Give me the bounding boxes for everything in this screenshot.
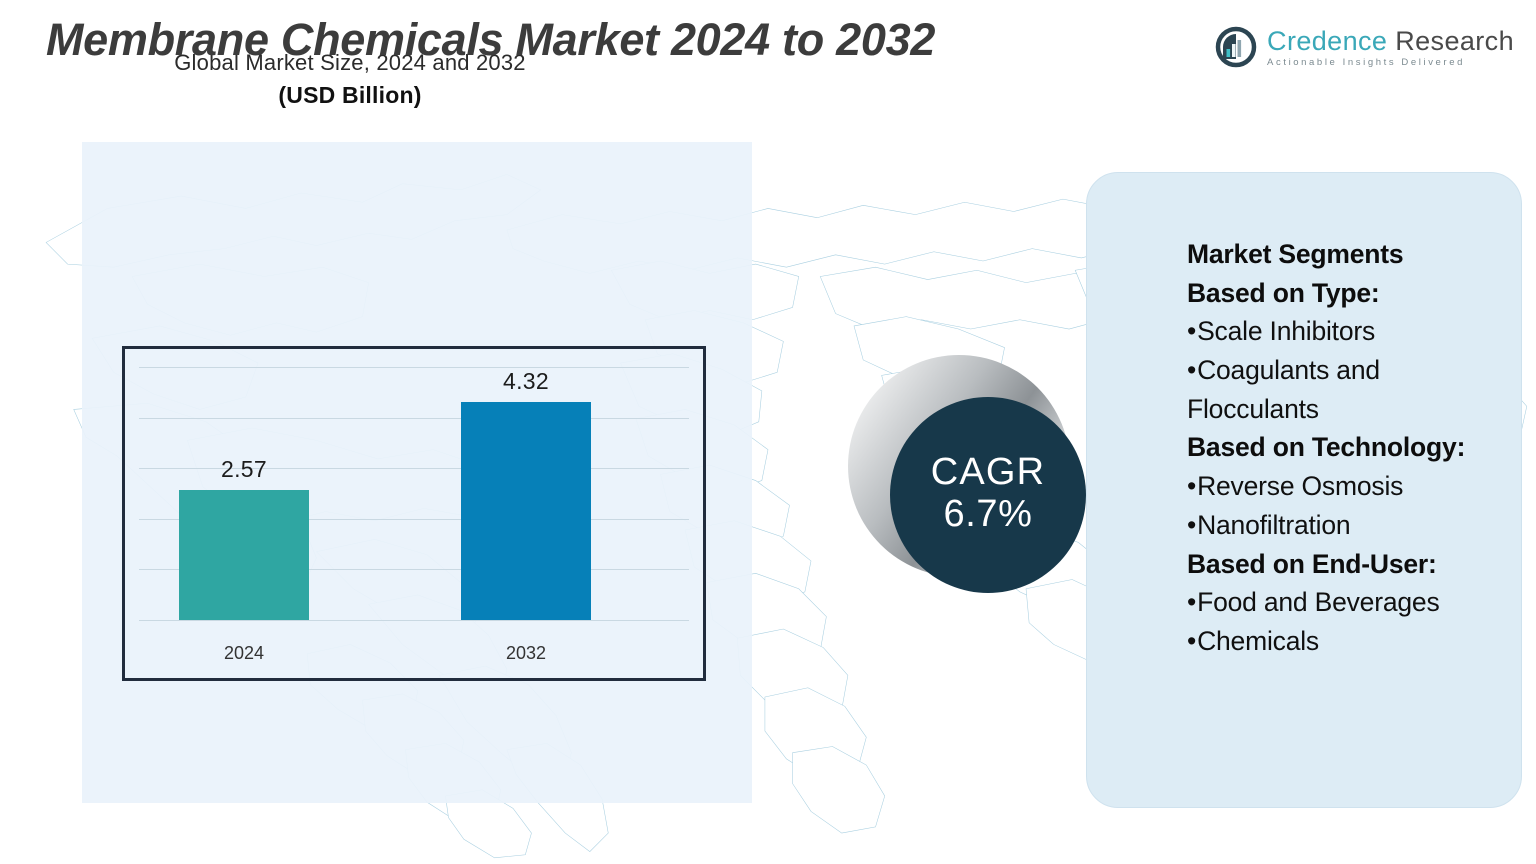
- segment-item-label: Food and Beverages: [1197, 587, 1439, 617]
- bar-column-2032: 4.32: [461, 349, 591, 620]
- bar-value-2032: 4.32: [503, 368, 549, 395]
- market-segments-panel: Market Segments Based on Type: •Scale In…: [1086, 172, 1522, 808]
- segment-group-end-user: Based on End-User: •Food and Beverages •…: [1187, 545, 1503, 661]
- segment-group-type: Based on Type: •Scale Inhibitors •Coagul…: [1187, 274, 1503, 429]
- segment-item-scale-inhibitors: •Scale Inhibitors: [1187, 312, 1503, 351]
- bar-label-2024: 2024: [179, 643, 309, 664]
- chart-plot-area: 2.57 4.32: [125, 349, 703, 620]
- cagr-value: 6.7%: [943, 493, 1032, 537]
- segment-item-label: Nanofiltration: [1197, 510, 1350, 540]
- segment-group-technology: Based on Technology: •Reverse Osmosis •N…: [1187, 428, 1503, 544]
- segment-item-food-and-beverages: •Food and Beverages: [1187, 583, 1503, 622]
- cagr-label: CAGR: [931, 453, 1046, 493]
- segment-heading-type: Based on Type:: [1187, 274, 1503, 313]
- bar-chart-circle-icon: [1214, 26, 1258, 70]
- segment-item-label: Scale Inhibitors: [1197, 316, 1375, 346]
- infographic-canvas: Membrane Chemicals Market 2024 to 2032 C…: [0, 0, 1536, 864]
- bar-rect-2032: [461, 402, 591, 620]
- brand-name-part2: Research: [1395, 26, 1514, 56]
- chart-subtitle: (USD Billion): [90, 82, 610, 109]
- segment-item-label: Reverse Osmosis: [1197, 471, 1403, 501]
- chart-frame: 2.57 4.32 2024 2032: [122, 346, 706, 681]
- brand-tagline: Actionable Insights Delivered: [1267, 58, 1514, 68]
- brand-logo: Credence Research Actionable Insights De…: [1214, 26, 1514, 70]
- segment-item-coagulants-flocculants: •Coagulants and Flocculants: [1187, 351, 1503, 428]
- segment-item-label: Coagulants and Flocculants: [1187, 355, 1380, 424]
- bar-label-2032: 2032: [461, 643, 591, 664]
- brand-name-part1: Credence: [1267, 26, 1387, 56]
- bar-value-2024: 2.57: [221, 456, 267, 483]
- cagr-circle: CAGR 6.7%: [890, 397, 1086, 593]
- segment-heading-technology: Based on Technology:: [1187, 428, 1503, 467]
- segment-item-chemicals: •Chemicals: [1187, 622, 1503, 661]
- page-title: Membrane Chemicals Market 2024 to 2032: [46, 14, 935, 66]
- gridline: [139, 620, 689, 621]
- segment-item-label: Chemicals: [1197, 626, 1319, 656]
- cagr-badge: CAGR 6.7%: [848, 355, 1088, 595]
- segments-title: Market Segments: [1187, 235, 1503, 274]
- segment-item-reverse-osmosis: •Reverse Osmosis: [1187, 467, 1503, 506]
- segment-item-nanofiltration: •Nanofiltration: [1187, 506, 1503, 545]
- bar-column-2024: 2.57: [179, 349, 309, 620]
- brand-wordmark: Credence Research Actionable Insights De…: [1267, 28, 1514, 68]
- segment-heading-end-user: Based on End-User:: [1187, 545, 1503, 584]
- bar-rect-2024: [179, 490, 309, 620]
